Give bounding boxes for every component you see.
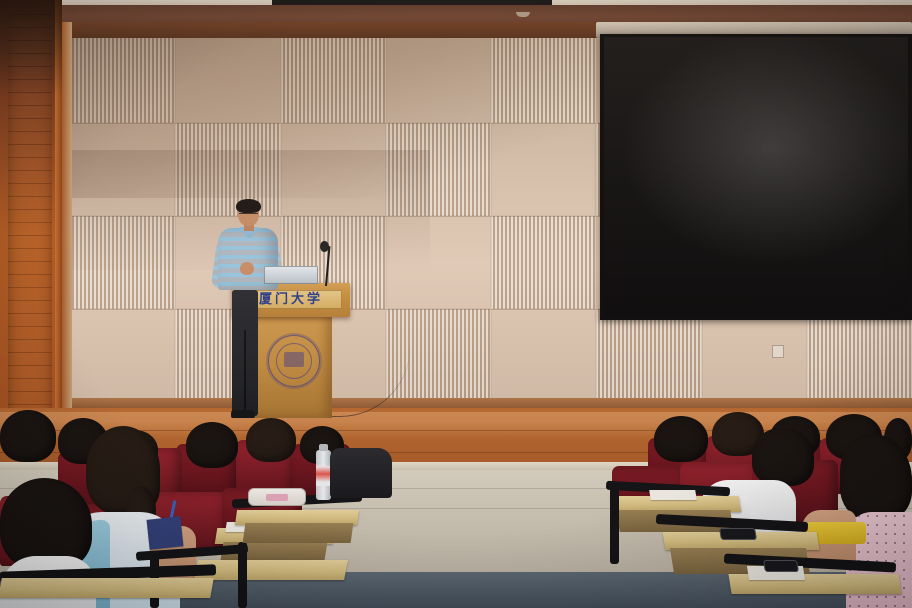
audience-head <box>654 416 708 462</box>
glasses-icon <box>239 213 258 218</box>
audience-head <box>0 410 56 462</box>
projection-screen-frame: 2011年 经验交流 08级数学科学学院 李世泽 <box>600 34 912 320</box>
audience-area <box>0 400 912 608</box>
wall-panel-striped <box>807 309 912 402</box>
bottle-label <box>316 466 331 486</box>
desk <box>0 578 214 598</box>
wall-panel-plain <box>491 309 596 402</box>
desk <box>194 560 348 580</box>
microphone-icon <box>320 241 329 252</box>
wall-panel-striped <box>491 216 596 309</box>
smartphone <box>763 560 799 572</box>
xiamen-university-emblem <box>268 335 320 387</box>
notebook <box>147 516 184 549</box>
speaker-hand <box>240 262 254 275</box>
desk-leg <box>238 542 247 608</box>
audience-head <box>246 418 296 462</box>
wood-pillar <box>0 0 62 424</box>
bottle-cap <box>319 444 328 451</box>
audience-head <box>186 422 238 468</box>
wall-header-beam <box>0 22 600 38</box>
pencil-case-bow <box>266 494 288 501</box>
laptop <box>264 266 318 284</box>
lecture-hall-photo: 2011年 经验交流 08级数学科学学院 李世泽 厦门大学 <box>0 0 912 608</box>
desk-apron <box>243 523 354 543</box>
wall-left-trim <box>62 22 72 410</box>
speaker-hair <box>236 199 261 213</box>
desk-leg <box>610 488 619 564</box>
wall-panel-plain <box>70 309 175 402</box>
smartphone <box>719 528 757 540</box>
audience-head <box>752 428 814 486</box>
paper <box>649 490 697 500</box>
pillar-shadow <box>0 0 62 96</box>
wall-outlet <box>772 345 784 358</box>
jacket <box>330 448 392 498</box>
wall-panel-plain <box>702 309 807 402</box>
wall-panel-striped <box>596 309 701 402</box>
